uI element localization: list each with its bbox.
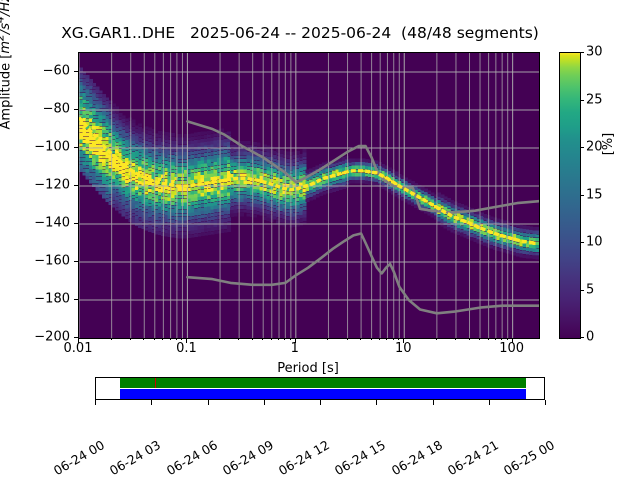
y-tick-mark [74,71,78,72]
colorbar-tick-mark [580,52,584,53]
x-minor-tick [219,338,220,340]
colorbar-tick-label: 0 [586,330,594,345]
timeline-tick-mark [376,400,377,405]
x-minor-tick [290,338,291,340]
x-tick-mark [295,338,296,343]
colorbar-label: [%] [601,94,616,194]
timeline-tick-label: 06-24 00 [51,437,107,478]
x-minor-tick [479,338,480,340]
x-tick-label: 1 [291,341,299,356]
timeline-tick-label: 06-24 18 [388,437,444,478]
colorbar-tick-mark [580,290,584,291]
x-minor-tick [252,338,253,340]
timeline-tick-mark [320,400,321,405]
x-minor-tick [278,338,279,340]
x-minor-tick [181,338,182,340]
timeline-tick-mark [151,400,152,405]
y-tick-mark [74,109,78,110]
colorbar-tick-mark [580,147,584,148]
timeline-tick-mark [545,400,546,405]
timeline-tick-mark [433,400,434,405]
x-minor-tick [143,338,144,340]
timeline-marker [155,378,157,388]
y-tick-mark [74,185,78,186]
x-minor-tick [455,338,456,340]
timeline-tick-label: 06-24 21 [445,437,501,478]
timeline-tick-label: 06-24 06 [163,437,219,478]
timeline-tick-label: 06-24 09 [220,437,276,478]
ppsd-plot-canvas [79,53,539,338]
page-title: XG.GAR1..DHE 2025-06-24 -- 2025-06-24 (4… [0,24,600,42]
x-minor-tick [130,338,131,340]
x-minor-tick [347,338,348,340]
colorbar-tick-mark [580,337,584,338]
x-tick-mark [512,338,513,343]
x-minor-tick [111,338,112,340]
colorbar-tick-label: 10 [586,235,603,250]
y-axis-label: Amplitude [m2/s4/Hz] [dB] [0,0,13,194]
x-minor-tick [488,338,489,340]
timeline-coverage-bar [120,389,526,399]
x-minor-tick [398,338,399,340]
y-tick-mark [74,261,78,262]
timeline-data-bar [120,378,526,388]
timeline-tick-label: 06-24 03 [107,437,163,478]
timeline-tick-mark [264,400,265,405]
x-minor-tick [386,338,387,340]
colorbar [559,52,581,339]
timeline-tick-label: 06-24 15 [332,437,388,478]
x-tick-label: 10 [395,341,412,356]
x-minor-tick [271,338,272,340]
x-minor-tick [501,338,502,340]
y-tick-label: −180 [0,292,70,307]
colorbar-tick-label: 5 [586,282,594,297]
x-minor-tick [170,338,171,340]
x-tick-label: 100 [499,341,524,356]
colorbar-tick-mark [580,195,584,196]
x-minor-tick [436,338,437,340]
x-minor-tick [162,338,163,340]
y-tick-mark [74,147,78,148]
colorbar-tick-mark [580,242,584,243]
timeline-tick-label: 06-25 00 [501,437,557,478]
y-tick-mark [74,299,78,300]
x-minor-tick [495,338,496,340]
timeline-strip[interactable] [95,377,545,400]
y-tick-label: −140 [0,216,70,231]
y-tick-label: −200 [0,330,70,345]
x-minor-tick [393,338,394,340]
timeline-tick-mark [208,400,209,405]
x-minor-tick [469,338,470,340]
x-minor-tick [238,338,239,340]
timeline-tick-label: 06-24 12 [276,437,332,478]
y-tick-mark [74,223,78,224]
x-tick-mark [403,338,404,343]
ppsd-figure: XG.GAR1..DHE 2025-06-24 -- 2025-06-24 (4… [0,0,640,480]
x-minor-tick [327,338,328,340]
x-tick-mark [186,338,187,343]
x-tick-label: 0.1 [176,341,197,356]
x-tick-mark [78,338,79,343]
ppsd-axes [78,52,540,339]
x-minor-tick [284,338,285,340]
x-tick-label: 0.01 [64,341,93,356]
timeline-tick-mark [95,400,96,405]
colorbar-tick-label: 30 [586,45,603,60]
y-tick-label: −160 [0,254,70,269]
colorbar-tick-mark [580,100,584,101]
x-minor-tick [154,338,155,340]
x-minor-tick [379,338,380,340]
timeline-tick-mark [489,400,490,405]
x-minor-tick [360,338,361,340]
x-minor-tick [507,338,508,340]
x-minor-tick [371,338,372,340]
x-minor-tick [176,338,177,340]
x-axis-label: Period [s] [78,361,538,376]
x-minor-tick [262,338,263,340]
